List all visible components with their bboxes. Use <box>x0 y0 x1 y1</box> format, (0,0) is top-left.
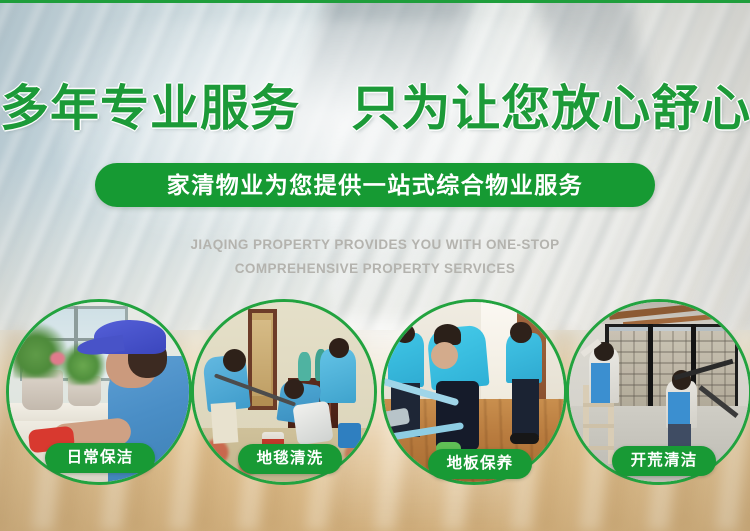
top-rule <box>0 0 750 3</box>
promo-banner: 多年专业服务 只为让您放心舒心 家清物业为您提供一站式综合物业服务 JIAQIN… <box>0 0 750 531</box>
service-label-text-2: 地毯清洗 <box>257 451 324 467</box>
service-label-daily-cleaning: 日常保洁 <box>45 443 155 473</box>
headline: 多年专业服务 只为让您放心舒心 <box>0 80 750 138</box>
english-subtitle-line-1: JIAQING PROPERTY PROVIDES YOU WITH ONE-S… <box>190 237 559 252</box>
service-label-text-3: 地板保养 <box>447 456 514 472</box>
headline-part-1: 多年专业服务 <box>0 82 300 136</box>
headline-part-2: 只为让您放心舒心 <box>351 82 750 136</box>
subhead-pill-text: 家清物业为您提供一站式综合物业服务 <box>167 174 584 197</box>
service-label-post-construction-cleaning: 开荒清洁 <box>612 446 716 476</box>
subhead-pill: 家清物业为您提供一站式综合物业服务 <box>95 163 655 207</box>
service-label-floor-maintenance: 地板保养 <box>428 449 532 479</box>
service-label-text-4: 开荒清洁 <box>631 453 698 469</box>
english-subtitle: JIAQING PROPERTY PROVIDES YOU WITH ONE-S… <box>0 233 750 281</box>
service-label-text-1: 日常保洁 <box>67 450 134 466</box>
english-subtitle-line-2: COMPREHENSIVE PROPERTY SERVICES <box>0 257 750 281</box>
service-label-carpet-cleaning: 地毯清洗 <box>238 444 342 474</box>
